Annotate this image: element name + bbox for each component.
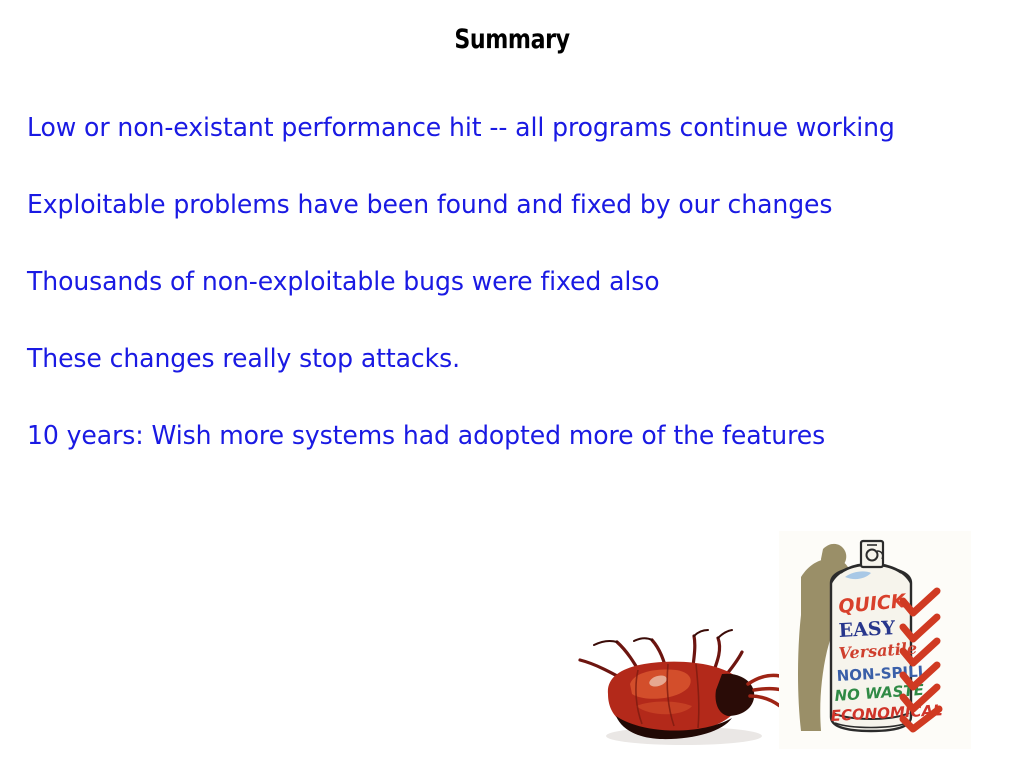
bullet-line-4: These changes really stop attacks. <box>27 344 982 374</box>
slide-canvas: Summary Low or non-existant performance … <box>0 0 1024 768</box>
spray-label-easy: EASY <box>838 617 896 642</box>
dead-beetle-photo <box>572 618 794 752</box>
page-title: Summary <box>92 24 932 55</box>
bullet-line-5: 10 years: Wish more systems had adopted … <box>27 421 982 451</box>
bullet-list: Low or non-existant performance hit -- a… <box>27 113 997 451</box>
bullet-line-2: Exploitable problems have been found and… <box>27 190 982 220</box>
bullet-line-3: Thousands of non-exploitable bugs were f… <box>27 267 982 297</box>
spray-can-illustration: QUICK EASY Versatile NON-SPILL NO WASTE … <box>779 531 971 749</box>
bullet-line-1: Low or non-existant performance hit -- a… <box>27 113 982 143</box>
